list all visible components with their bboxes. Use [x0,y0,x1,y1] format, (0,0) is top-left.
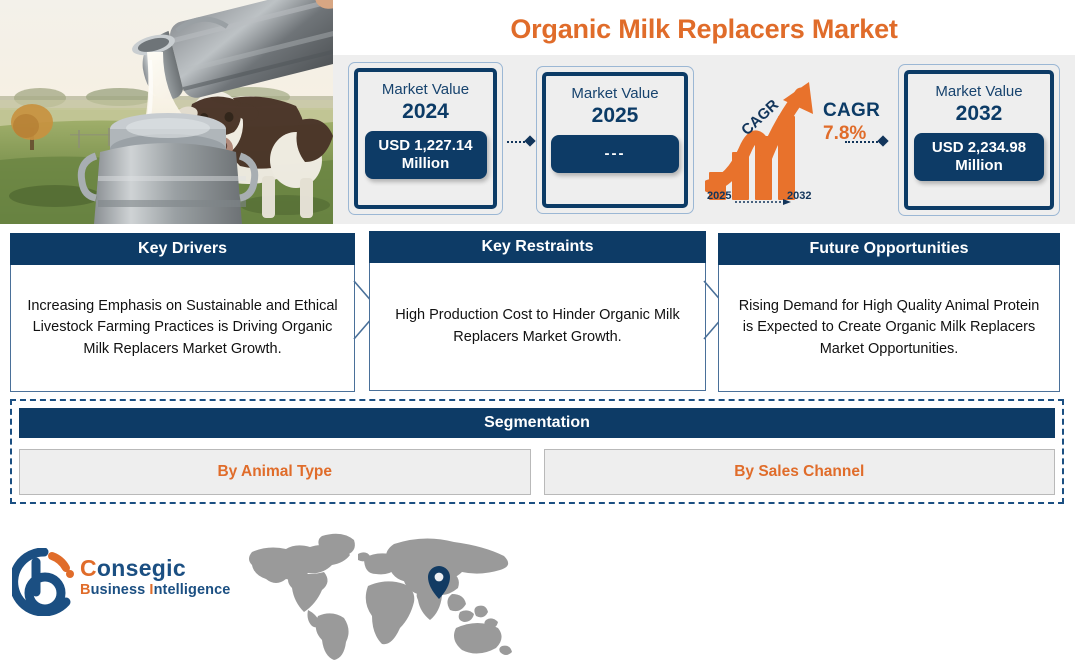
brand-logo: Consegic Business Intelligence [12,548,237,620]
connector-diamond-1 [524,135,535,146]
brand-tagline: Business Intelligence [80,582,230,598]
market-value-amount-2024: USD 1,227.14 Million [365,131,487,178]
market-value-label-2025: Market Value [571,85,658,102]
panel-key-restraints: Key Restraints High Production Cost to H… [369,231,706,391]
brand-wordmark: Consegic Business Intelligence [80,556,230,598]
cagr-readout: CAGR 7.8% [823,100,880,145]
segmentation-item-animal-type[interactable]: By Animal Type [19,449,531,495]
market-value-amount-2025: --- [551,135,679,173]
brand-name-initial: C [80,555,97,581]
panel-key-drivers-title: Key Drivers [10,233,355,265]
market-value-card-2025: Market Value 2025 --- [536,66,694,214]
panel-key-restraints-title: Key Restraints [369,231,706,263]
page-title: Organic Milk Replacers Market [333,14,1075,51]
brand-tagline-ntelligence: ntelligence [154,582,231,598]
cagr-label: CAGR [823,100,880,122]
segmentation-item-label: By Sales Channel [734,463,864,481]
segmentation-item-sales-channel[interactable]: By Sales Channel [544,449,1056,495]
panel-future-opportunities: Future Opportunities Rising Demand for H… [718,233,1060,392]
top-band: Organic Milk Replacers Market Market Val… [0,0,1075,224]
panel-key-restraints-text: High Production Cost to Hinder Organic M… [369,263,706,391]
market-value-card-2032: Market Value 2032 USD 2,234.98 Million [898,64,1060,216]
market-value-label-2032: Market Value [935,83,1022,100]
bottom-band: Consegic Business Intelligence [0,510,1075,660]
segmentation-section: Segmentation By Animal Type By Sales Cha… [10,399,1064,504]
market-value-amount-2032: USD 2,234.98 Million [914,133,1044,180]
cagr-end-year: 2032 [787,190,811,202]
cagr-start-year: 2025 [707,190,731,202]
panel-key-drivers: Key Drivers Increasing Emphasis on Susta… [10,233,355,392]
insight-panels-row: Key Drivers Increasing Emphasis on Susta… [0,224,1075,396]
top-right-band: Organic Milk Replacers Market Market Val… [333,0,1075,224]
consegic-b-logo-icon [12,548,76,616]
panel-future-opportunities-title: Future Opportunities [718,233,1060,265]
market-value-label-2024: Market Value [382,81,469,98]
segmentation-title: Segmentation [19,408,1055,438]
connector-line-2 [845,141,881,143]
segmentation-item-label: By Animal Type [217,463,332,481]
segmentation-items: By Animal Type By Sales Channel [19,449,1055,495]
hero-photo [0,0,333,224]
market-value-year-2032: 2032 [956,101,1003,126]
market-value-card-2024: Market Value 2024 USD 1,227.14 Million [348,62,503,215]
cagr-block: CAGR 2025 2032 CAGR 7.8% [705,78,895,211]
market-value-year-2025: 2025 [592,103,639,128]
infographic-page: Organic Milk Replacers Market Market Val… [0,0,1075,660]
panel-future-opportunities-text: Rising Demand for High Quality Animal Pr… [718,265,1060,392]
market-value-year-2024: 2024 [402,99,449,124]
milk-pour-illustration [0,0,333,224]
growth-chart-icon: CAGR [705,78,823,206]
panel-key-drivers-text: Increasing Emphasis on Sustainable and E… [10,265,355,392]
world-map [246,528,518,660]
brand-name-rest: onsegic [97,555,186,581]
brand-tagline-usiness: usiness [91,582,150,598]
brand-tagline-b: B [80,582,91,598]
brand-name: Consegic [80,556,230,580]
